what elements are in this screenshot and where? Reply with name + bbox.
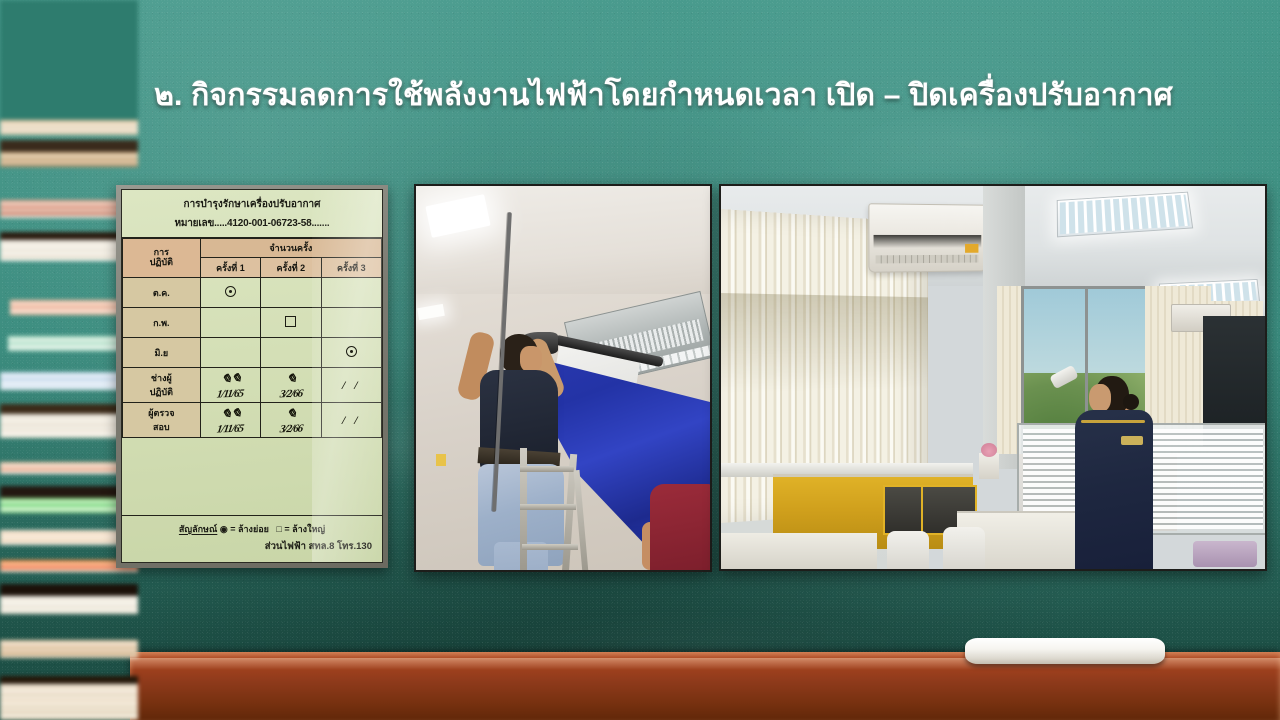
cell-feb-3 — [321, 308, 381, 338]
empty-date-slashes: / / — [342, 378, 361, 393]
wall-sticker — [436, 454, 446, 466]
technician-label-line2: ปฏิบัติ — [123, 385, 200, 399]
table-row: มิ.ย — [123, 338, 382, 368]
card-serial-number: หมายเลข.....4120-001-06723-58....... — [126, 216, 378, 232]
table-header-row-group: การ ปฏิบัติ จำนวนครั้ง — [123, 239, 382, 258]
cell-oct-2 — [261, 278, 321, 308]
legend-square-icon: □ — [276, 524, 281, 534]
employee-face — [1089, 384, 1111, 412]
technician-face — [520, 346, 542, 372]
table-row: ต.ค. — [123, 278, 382, 308]
inspector-cell-1: ✎✎ 1/11/65 — [200, 403, 260, 438]
row-month-label: ต.ค. — [123, 278, 201, 308]
handwritten-date: 3/2/66 — [279, 422, 303, 435]
inspector-label-line1: ผู้ตรวจ — [123, 406, 200, 420]
cell-jun-1 — [200, 338, 260, 368]
bystander-red-shirt — [650, 484, 712, 570]
handwritten-signature: ✎✎ — [219, 370, 242, 387]
header-time-3: ครั้งที่ 3 — [321, 258, 381, 278]
chalk-stick — [965, 638, 1165, 664]
header-action-line2: ปฏิบัติ — [123, 258, 200, 268]
plastic-chair-2 — [943, 527, 985, 569]
card-department-contact: ส่วนไฟฟ้า สทล.8 โทร.130 — [128, 539, 376, 555]
lamp-grid — [1060, 195, 1190, 235]
employee-figure — [1049, 352, 1167, 569]
photo-office-ac-remote — [719, 184, 1267, 571]
blinds-sun-shadow — [721, 293, 928, 393]
technician-label-line1: ช่างผู้ — [123, 371, 200, 385]
header-group-count: จำนวนครั้ง — [200, 239, 381, 258]
legend-dot-meaning: = ล้างย่อย — [230, 524, 269, 534]
handwritten-signature: ✎✎ — [219, 405, 242, 422]
inspector-label-line2: สอบ — [123, 420, 200, 434]
side-table — [721, 533, 877, 569]
employee-uniform-shirt — [1075, 410, 1153, 570]
handwritten-signature: ✎ — [284, 405, 297, 422]
technician-cell-2: ✎ 3/2/66 — [261, 368, 321, 403]
handwritten-date: 3/2/66 — [279, 387, 303, 400]
ac-brand-label — [965, 244, 978, 253]
card-heading: การบำรุงรักษาเครื่องปรับอากาศ — [126, 197, 378, 213]
slide-canvas: ๒. กิจกรรมลดการใช้พลังงานไฟฟ้าโดยกำหนดเว… — [0, 0, 1280, 720]
plastic-chair-1 — [887, 531, 929, 569]
wash-big-square-icon — [285, 316, 296, 327]
inspector-cell-2: ✎ 3/2/66 — [261, 403, 321, 438]
legend-dot-icon: ◉ — [220, 524, 228, 534]
card-footer: สัญลักษณ์ ◉ = ล้างย่อย □ = ล้างใหญ่ ส่วน… — [122, 515, 382, 562]
page-title: ๒. กิจกรรมลดการใช้พลังงานไฟฟ้าโดยกำหนดเว… — [96, 74, 1231, 120]
cell-feb-2 — [261, 308, 321, 338]
inspector-cell-3: / / — [321, 403, 381, 438]
wash-small-dot-icon — [225, 286, 236, 297]
step-ladder — [520, 448, 592, 572]
row-month-label: มิ.ย — [123, 338, 201, 368]
technician-cell-3: / / — [321, 368, 381, 403]
handwritten-date: 1/11/65 — [216, 422, 244, 435]
employee-hair-bun — [1123, 394, 1139, 410]
uniform-stripe — [1081, 420, 1145, 423]
legend-square-meaning: = ล้างใหญ่ — [284, 524, 325, 534]
cell-oct-1 — [200, 278, 260, 308]
uniform-logo — [1121, 436, 1143, 445]
maintenance-table: การ ปฏิบัติ จำนวนครั้ง ครั้งที่ 1 ครั้งท… — [122, 238, 382, 438]
technician-cell-1: ✎✎ 1/11/65 — [200, 368, 260, 403]
legend-line: สัญลักษณ์ ◉ = ล้างย่อย □ = ล้างใหญ่ — [128, 522, 376, 537]
ac-vent — [876, 255, 979, 264]
table-row-technician: ช่างผู้ ปฏิบัติ ✎✎ 1/11/65 ✎ 3/2/66 — [123, 368, 382, 403]
table-row-inspector: ผู้ตรวจ สอบ ✎✎ 1/11/65 ✎ 3/2/66 — [123, 403, 382, 438]
ac-remote-control — [1049, 365, 1079, 390]
header-action-cell: การ ปฏิบัติ — [123, 239, 201, 278]
handwritten-signature: ✎ — [284, 370, 297, 387]
maintenance-record-card: การบำรุงรักษาเครื่องปรับอากาศ หมายเลข...… — [116, 185, 388, 568]
header-time-2: ครั้งที่ 2 — [261, 258, 321, 278]
card-header: การบำรุงรักษาเครื่องปรับอากาศ หมายเลข...… — [122, 190, 382, 238]
header-time-1: ครั้งที่ 1 — [200, 258, 260, 278]
row-technician-label: ช่างผู้ ปฏิบัติ — [123, 368, 201, 403]
legend-title: สัญลักษณ์ — [179, 524, 217, 534]
table-row: ก.พ. — [123, 308, 382, 338]
wash-small-dot-icon — [346, 346, 357, 357]
photo-technician-cleaning-ac — [414, 184, 712, 572]
cell-jun-3 — [321, 338, 381, 368]
row-inspector-label: ผู้ตรวจ สอบ — [123, 403, 201, 438]
cell-feb-1 — [200, 308, 260, 338]
maintenance-card-body: การบำรุงรักษาเครื่องปรับอากาศ หมายเลข...… — [121, 189, 383, 563]
potted-flower — [979, 453, 999, 479]
desk-basket — [1193, 541, 1257, 567]
empty-date-slashes: / / — [342, 413, 361, 428]
cell-oct-3 — [321, 278, 381, 308]
cell-jun-2 — [261, 338, 321, 368]
row-month-label: ก.พ. — [123, 308, 201, 338]
wall-air-conditioner-unit — [868, 203, 987, 273]
handwritten-date: 1/11/65 — [216, 387, 244, 400]
